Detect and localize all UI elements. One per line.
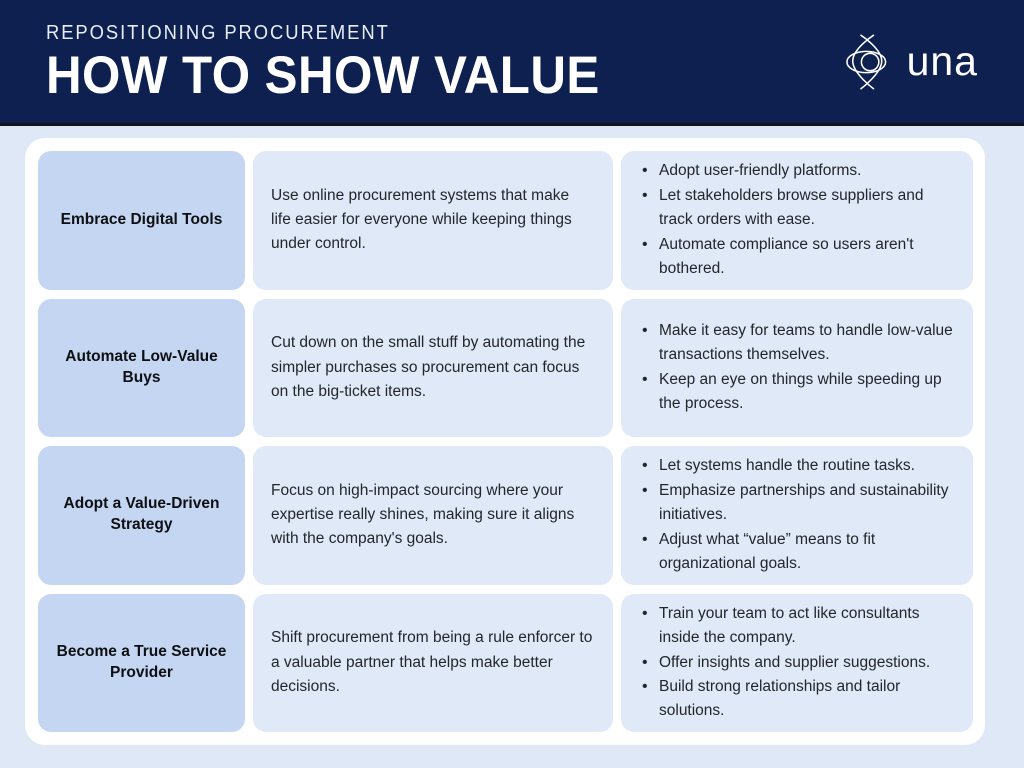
row-label-card: Embrace Digital Tools [38,151,245,290]
list-item: Let systems handle the routine tasks. [633,454,957,478]
row-label-card: Automate Low-Value Buys [38,299,245,438]
row-label-card: Adopt a Value-Driven Strategy [38,446,245,585]
row-description-text: Focus on high-impact sourcing where your… [271,479,593,552]
bullet-list: Let systems handle the routine tasks. Em… [633,454,957,576]
bullet-list: Train your team to act like consultants … [633,602,957,724]
row-description-text: Shift procurement from being a rule enfo… [271,626,593,699]
table-row: Embrace Digital Tools Use online procure… [38,151,973,290]
table-row: Become a True Service Provider Shift pro… [38,594,973,733]
list-item: Adopt user-friendly platforms. [633,159,957,183]
row-bullets-card: Make it easy for teams to handle low-val… [621,299,973,438]
list-item: Adjust what “value” means to fit organiz… [633,528,957,577]
list-item: Keep an eye on things while speeding up … [633,368,957,417]
table-row: Automate Low-Value Buys Cut down on the … [38,299,973,438]
list-item: Let stakeholders browse suppliers and tr… [633,184,957,233]
list-item: Automate compliance so users aren't both… [633,233,957,282]
content-card-container: Embrace Digital Tools Use online procure… [25,138,985,745]
row-description-card: Cut down on the small stuff by automatin… [253,299,613,438]
row-label-text: Become a True Service Provider [52,642,231,684]
header-eyebrow: REPOSITIONING PROCUREMENT [46,22,594,45]
list-item: Offer insights and supplier suggestions. [633,651,957,675]
page-title: HOW TO SHOW VALUE [46,49,600,102]
header-text-block: REPOSITIONING PROCUREMENT HOW TO SHOW VA… [46,22,641,102]
list-item: Build strong relationships and tailor so… [633,675,957,724]
page-body: Embrace Digital Tools Use online procure… [0,126,1024,768]
list-item: Train your team to act like consultants … [633,602,957,651]
bullet-list: Make it easy for teams to handle low-val… [633,319,957,417]
row-label-card: Become a True Service Provider [38,594,245,733]
list-item: Emphasize partnerships and sustainabilit… [633,479,957,528]
una-trefoil-logo-icon [845,31,903,93]
row-description-card: Shift procurement from being a rule enfo… [253,594,613,733]
row-bullets-card: Let systems handle the routine tasks. Em… [621,446,973,585]
row-label-text: Adopt a Value-Driven Strategy [52,494,231,536]
row-bullets-card: Adopt user-friendly platforms. Let stake… [621,151,973,290]
row-description-text: Cut down on the small stuff by automatin… [271,331,593,404]
row-label-text: Embrace Digital Tools [61,210,223,231]
row-description-text: Use online procurement systems that make… [271,184,593,257]
logo-wordmark: una [907,38,978,85]
row-label-text: Automate Low-Value Buys [52,347,231,389]
brand-logo: una [845,31,978,93]
page-header: REPOSITIONING PROCUREMENT HOW TO SHOW VA… [0,0,1024,126]
row-description-card: Focus on high-impact sourcing where your… [253,446,613,585]
bullet-list: Adopt user-friendly platforms. Let stake… [633,159,957,281]
row-bullets-card: Train your team to act like consultants … [621,594,973,733]
list-item: Make it easy for teams to handle low-val… [633,319,957,368]
table-row: Adopt a Value-Driven Strategy Focus on h… [38,446,973,585]
row-description-card: Use online procurement systems that make… [253,151,613,290]
